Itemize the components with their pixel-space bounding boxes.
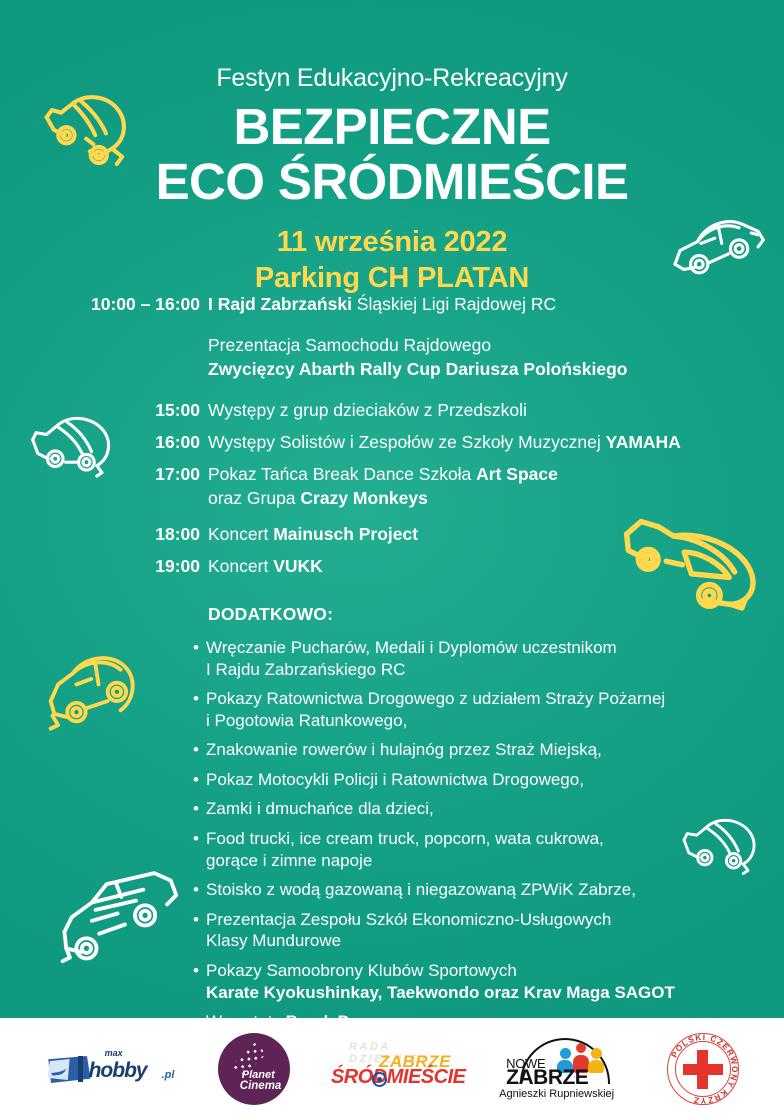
- schedule-desc-plain: Koncert: [208, 556, 273, 576]
- logo-planet-cinema: Planet Cinema: [218, 1033, 290, 1105]
- sponsor-logo-bar: max hobby .pl Planet Cinema RADA DZIELNI…: [0, 1018, 784, 1120]
- list-item-text: Pokaz Motocykli Policji i Ratownictwa Dr…: [206, 769, 584, 791]
- extra-bullet-list: • Wręczanie Pucharów, Medali i Dyplomów …: [186, 637, 746, 1033]
- list-item-line2: Klasy Mundurowe: [206, 930, 611, 952]
- list-item-text: Wręczanie Pucharów, Medali i Dyplomów uc…: [206, 637, 617, 680]
- schedule-row: 10:00 – 16:00 I Rajd Zabrzański Śląskiej…: [0, 293, 784, 316]
- list-item: • Stoisko z wodą gazowaną i niegazowaną …: [186, 879, 746, 901]
- schedule-desc-plain: Pokaz Tańca Break Dance Szkoła: [208, 464, 476, 484]
- pck-circular-text: POLSKI CZERWONY KRZYŻ: [667, 1033, 739, 1105]
- schedule-desc: Koncert Mainusch Project: [200, 523, 418, 546]
- list-item-text: Znakowanie rowerów i hulajnóg przez Stra…: [206, 739, 602, 761]
- poster-header: Festyn Edukacyjno-Rekreacyjny BEZPIECZNE…: [0, 0, 784, 297]
- rada-gear-icon: [372, 1072, 387, 1087]
- list-item-line2: gorące i zimne napoje: [206, 850, 604, 872]
- schedule-desc-plain: Koncert: [208, 524, 273, 544]
- schedule-desc: I Rajd Zabrzański Śląskiej Ligi Rajdowej…: [200, 293, 556, 316]
- logo-pck: POLSKI CZERWONY KRZYŻ: [667, 1033, 739, 1105]
- bullet-marker-icon: •: [186, 688, 206, 731]
- schedule-desc: Występy z grup dzieciaków z Przedszkoli: [200, 399, 527, 422]
- list-item-text: Stoisko z wodą gazowaną i niegazowaną ZP…: [206, 879, 636, 901]
- event-title-line1: BEZPIECZNE: [0, 99, 784, 154]
- schedule-desc-plain: Występy Solistów i Zespołów ze Szkoły Mu…: [208, 432, 606, 452]
- svg-text:POLSKI CZERWONY KRZYŻ: POLSKI CZERWONY KRZYŻ: [670, 1033, 739, 1105]
- nowe-line3-text: Agnieszki Rupniewskiej: [499, 1088, 614, 1100]
- schedule-row: 17:00 Pokaz Tańca Break Dance Szkoła Art…: [0, 463, 784, 510]
- bullet-marker-icon: •: [186, 909, 206, 952]
- schedule-desc-bold: Zwycięzcy Abarth Rally Cup Dariusza Polo…: [208, 359, 627, 379]
- list-item-line2: I Rajdu Zabrzańskiego RC: [206, 659, 617, 681]
- planet-line2-text: Cinema: [240, 1080, 282, 1092]
- nowe-line2-text: ZABRZE: [506, 1066, 588, 1090]
- list-item-text: Prezentacja Zespołu Szkół Ekonomiczno-Us…: [206, 909, 611, 952]
- schedule-desc-plain: Śląskiej Ligi Rajdowej RC: [352, 294, 556, 314]
- bullet-marker-icon: •: [186, 828, 206, 871]
- bullet-marker-icon: •: [186, 960, 206, 1003]
- bullet-marker-icon: •: [186, 739, 206, 761]
- list-item-line1: Wręczanie Pucharów, Medali i Dyplomów uc…: [206, 637, 617, 659]
- list-item: • Wręczanie Pucharów, Medali i Dyplomów …: [186, 637, 746, 680]
- list-item-line1: Food trucki, ice cream truck, popcorn, w…: [206, 828, 604, 850]
- logo-nowe-zabrze: NOWE ZABRZE Agnieszki Rupniewskiej: [498, 1038, 630, 1100]
- event-kicker: Festyn Edukacyjno-Rekreacyjny: [0, 64, 784, 93]
- schedule-desc-bold: VUKK: [273, 556, 323, 576]
- logo-maxhobby: max hobby .pl: [45, 1049, 181, 1089]
- list-item: • Pokaz Motocykli Policji i Ratownictwa …: [186, 769, 746, 791]
- list-item-line1: Pokazy Samoobrony Klubów Sportowych: [206, 960, 675, 982]
- poster: Festyn Edukacyjno-Rekreacyjny BEZPIECZNE…: [0, 0, 784, 1120]
- event-title-line2: ECO ŚRÓDMIEŚCIE: [0, 154, 784, 209]
- schedule-row: 16:00 Występy Solistów i Zespołów ze Szk…: [0, 431, 784, 454]
- list-item-line1: Prezentacja Zespołu Szkół Ekonomiczno-Us…: [206, 909, 611, 931]
- list-item: • Znakowanie rowerów i hulajnóg przez St…: [186, 739, 746, 761]
- list-item-text: Food trucki, ice cream truck, popcorn, w…: [206, 828, 604, 871]
- schedule-desc: Prezentacja Samochodu Rajdowego Zwycięzc…: [200, 334, 627, 381]
- bullet-marker-icon: •: [186, 769, 206, 791]
- schedule-desc-bold: I Rajd Zabrzański: [208, 294, 352, 314]
- maxhobby-bar-icon: [78, 1056, 83, 1082]
- schedule-list: 10:00 – 16:00 I Rajd Zabrzański Śląskiej…: [0, 293, 784, 585]
- list-item-line2: i Pogotowia Ratunkowego,: [206, 710, 665, 732]
- schedule-row: Prezentacja Samochodu Rajdowego Zwycięzc…: [0, 334, 784, 381]
- schedule-desc-bold-2: Crazy Monkeys: [300, 488, 427, 508]
- event-place: Parking CH PLATAN: [0, 261, 784, 297]
- list-item-text: Pokazy Samoobrony Klubów Sportowych Kara…: [206, 960, 675, 1003]
- schedule-row: 18:00 Koncert Mainusch Project: [0, 523, 784, 546]
- schedule-time: 15:00: [0, 399, 200, 422]
- schedule-row: 19:00 Koncert VUKK: [0, 555, 784, 578]
- bullet-marker-icon: •: [186, 798, 206, 820]
- list-item: • Prezentacja Zespołu Szkół Ekonomiczno-…: [186, 909, 746, 952]
- extra-section: DODATKOWO: • Wręczanie Pucharów, Medali …: [0, 604, 784, 1041]
- list-item: • Pokazy Ratownictwa Drogowego z udziałe…: [186, 688, 746, 731]
- schedule-desc-plain: Prezentacja Samochodu Rajdowego: [208, 334, 627, 357]
- maxhobby-tld-text: .pl: [162, 1069, 175, 1081]
- logo-rada-dzielnicy: RADA DZIELNICY ZABRZE ŚRÓDMIEŚCIE: [327, 1042, 461, 1096]
- schedule-time: 17:00: [0, 463, 200, 486]
- schedule-desc: Koncert VUKK: [200, 555, 323, 578]
- schedule-desc: Pokaz Tańca Break Dance Szkoła Art Space…: [200, 463, 558, 510]
- schedule-time: 18:00: [0, 523, 200, 546]
- maxhobby-word-text: hobby: [89, 1059, 147, 1083]
- event-date: 11 września 2022: [0, 225, 784, 261]
- list-item: • Food trucki, ice cream truck, popcorn,…: [186, 828, 746, 871]
- list-item-text: Pokazy Ratownictwa Drogowego z udziałem …: [206, 688, 665, 731]
- maxhobby-max-text: max: [105, 1048, 123, 1058]
- bullet-marker-icon: •: [186, 637, 206, 680]
- list-item-text: Zamki i dmuchańce dla dzieci,: [206, 798, 434, 820]
- schedule-time: 19:00: [0, 555, 200, 578]
- schedule-row: 15:00 Występy z grup dzieciaków z Przeds…: [0, 399, 784, 422]
- schedule-desc-bold: YAMAHA: [606, 432, 681, 452]
- schedule-desc-plain-2: oraz Grupa: [208, 488, 300, 508]
- nowe-person-body-yellow-icon: [588, 1060, 604, 1073]
- rada-line3-text: ŚRÓDMIEŚCIE: [331, 1066, 466, 1089]
- list-item-line1: Pokazy Ratownictwa Drogowego z udziałem …: [206, 688, 665, 710]
- schedule-time: 10:00 – 16:00: [0, 293, 200, 316]
- list-item: • Pokazy Samoobrony Klubów Sportowych Ka…: [186, 960, 746, 1003]
- schedule-desc: Występy Solistów i Zespołów ze Szkoły Mu…: [200, 431, 681, 454]
- schedule-time: 16:00: [0, 431, 200, 454]
- list-item-line2-bold: Karate Kyokushinkay, Taekwondo oraz Krav…: [206, 983, 675, 1002]
- schedule-desc-bold: Mainusch Project: [273, 524, 418, 544]
- bullet-marker-icon: •: [186, 879, 206, 901]
- extra-title: DODATKOWO:: [208, 604, 784, 625]
- list-item: • Zamki i dmuchańce dla dzieci,: [186, 798, 746, 820]
- schedule-desc-bold: Art Space: [476, 464, 558, 484]
